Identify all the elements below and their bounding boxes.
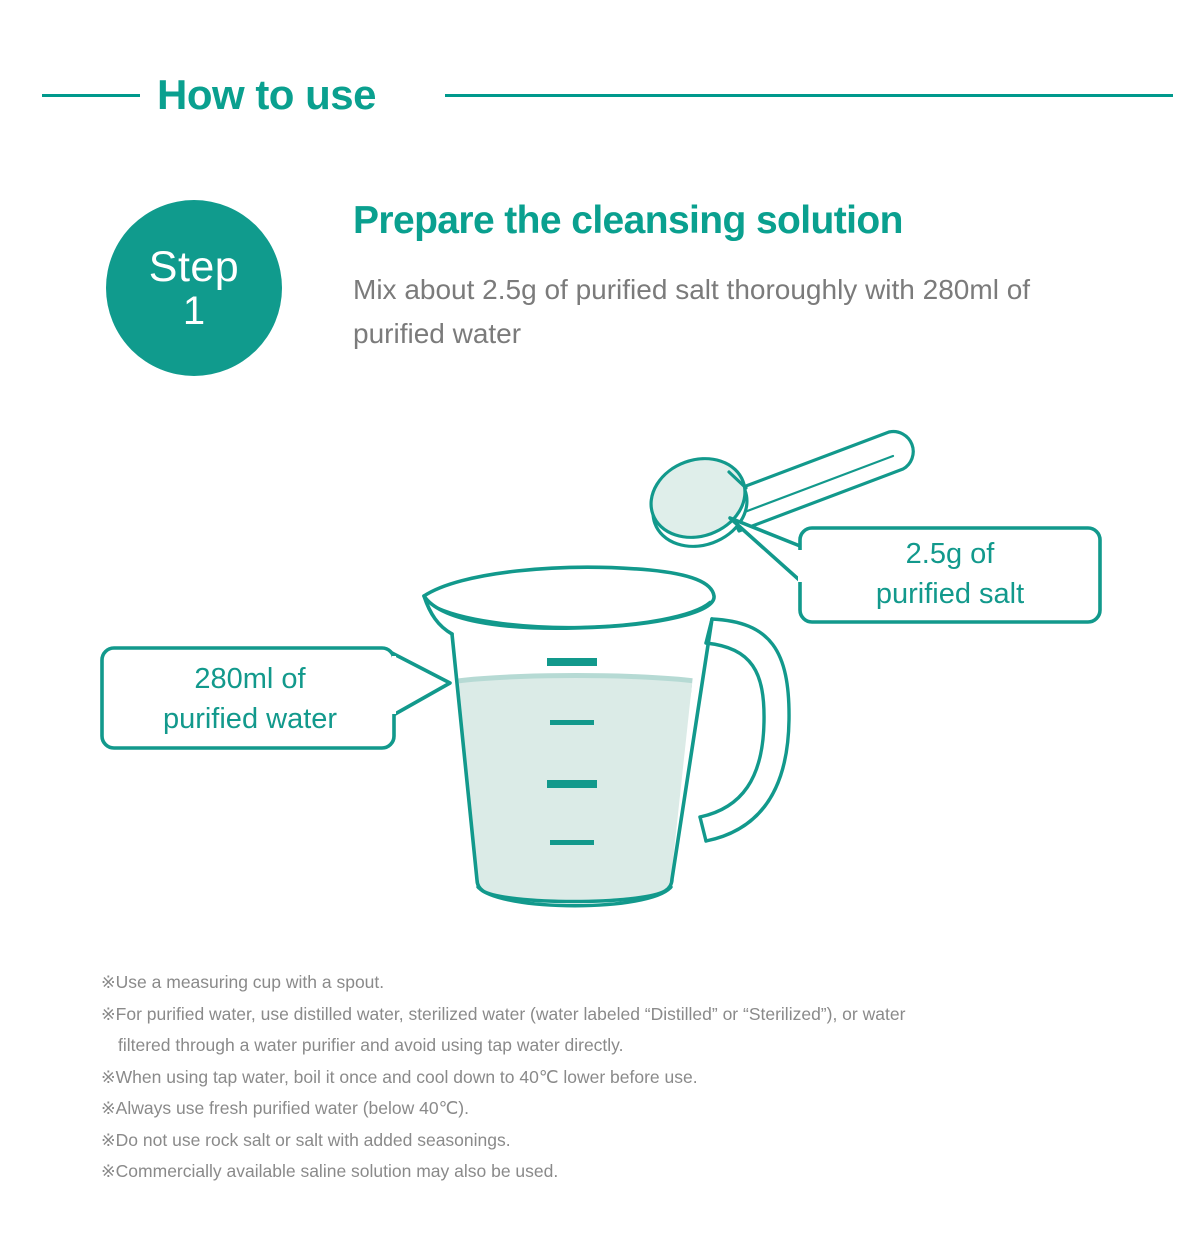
page-title: How to use: [157, 62, 376, 128]
measuring-cup-illustration: [424, 567, 789, 915]
note-item: ※Always use fresh purified water (below …: [101, 1093, 1111, 1125]
callout-water-line1: 280ml of: [194, 663, 306, 695]
note-item: ※Use a measuring cup with a spout.: [101, 967, 1111, 999]
graduation-mark-3: [547, 780, 597, 788]
step-description: Mix about 2.5g of purified salt thorough…: [353, 268, 1113, 356]
note-item: ※Commercially available saline solution …: [101, 1156, 1111, 1188]
callout-salt: 2.5g of purified salt: [730, 518, 1100, 622]
step-badge-number: 1: [183, 290, 205, 332]
graduation-mark-1: [547, 658, 597, 666]
graduation-mark-4: [550, 840, 594, 845]
header-rule-right: [445, 94, 1173, 97]
callout-salt-line1: 2.5g of: [906, 538, 996, 570]
note-item: ※When using tap water, boil it once and …: [101, 1062, 1111, 1094]
graduation-mark-2: [550, 720, 594, 725]
notes-list: ※Use a measuring cup with a spout. ※For …: [101, 967, 1111, 1188]
page-header: How to use: [0, 62, 1200, 132]
callout-water: 280ml of purified water: [102, 648, 450, 748]
step-badge: Step 1: [106, 200, 282, 376]
step-badge-word: Step: [149, 244, 239, 290]
note-item: ※For purified water, use distilled water…: [101, 999, 1111, 1031]
illustration-figure: 2.5g of purified salt: [0, 400, 1200, 950]
step-heading: Prepare the cleansing solution: [353, 199, 903, 243]
note-item: ※Do not use rock salt or salt with added…: [101, 1125, 1111, 1157]
callout-water-line2: purified water: [163, 703, 337, 735]
header-rule-left: [42, 94, 140, 97]
note-item-continuation: filtered through a water purifier and av…: [101, 1030, 1111, 1062]
callout-salt-line2: purified salt: [876, 578, 1024, 610]
